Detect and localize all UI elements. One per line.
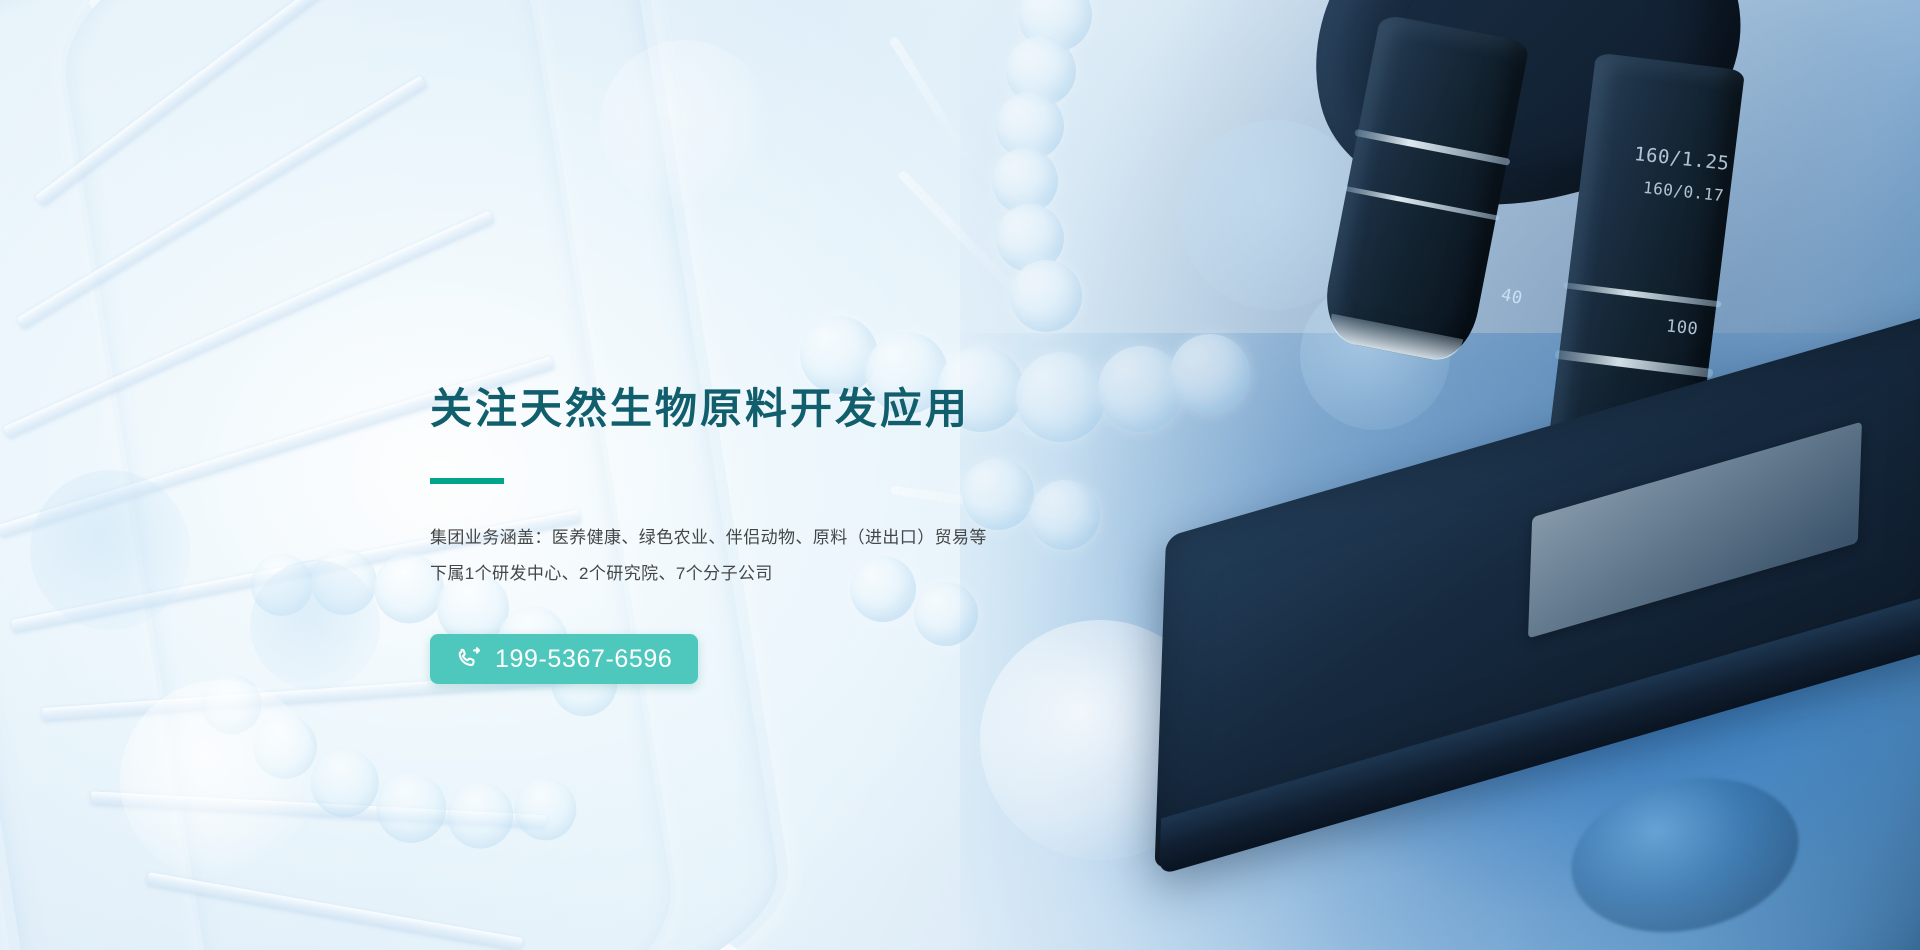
microscope-blue-glow <box>1320 480 1920 910</box>
hero-description: 集团业务涵盖：医养健康、绿色农业、伴侣动物、原料（进出口）贸易等 下属1个研发中… <box>430 520 1250 592</box>
lens-marking-label: 100 <box>1665 316 1699 339</box>
microscope-stage-icon <box>1154 299 1920 870</box>
microscope-slide-icon <box>1528 422 1862 639</box>
bokeh-circle <box>1300 280 1450 430</box>
microscope-focus-knob-icon <box>1557 758 1813 950</box>
lens-marking-label: 160/0.17 <box>1642 178 1725 205</box>
microscope-objective-lens-icon <box>1545 52 1745 487</box>
bokeh-circle <box>1420 60 1540 180</box>
bokeh-circle <box>1180 120 1370 310</box>
lens-marking-label: 160/1.25 <box>1634 143 1731 175</box>
bokeh-circle <box>600 40 770 210</box>
microscope-stage-edge <box>1159 581 1920 875</box>
hero-description-line: 集团业务涵盖：医养健康、绿色农业、伴侣动物、原料（进出口）贸易等 <box>430 520 1250 556</box>
title-divider-rule <box>430 478 504 484</box>
hero-banner: 160/1.25 160/0.17 40 100 关注天然生物原料开发应用 集团… <box>0 0 1920 950</box>
phone-call-button[interactable]: 199-5367-6596 <box>430 634 698 684</box>
bokeh-circle <box>250 560 380 690</box>
lens-marking-label: 40 <box>1499 285 1524 309</box>
bokeh-circle <box>30 470 190 630</box>
bokeh-circle <box>120 680 320 880</box>
hero-content: 关注天然生物原料开发应用 集团业务涵盖：医养健康、绿色农业、伴侣动物、原料（进出… <box>430 384 1250 684</box>
hero-description-line: 下属1个研发中心、2个研究院、7个分子公司 <box>430 556 1250 592</box>
hero-title: 关注天然生物原料开发应用 <box>430 384 1250 434</box>
phone-number-label: 199-5367-6596 <box>495 647 672 672</box>
phone-forwarded-icon <box>456 646 482 672</box>
